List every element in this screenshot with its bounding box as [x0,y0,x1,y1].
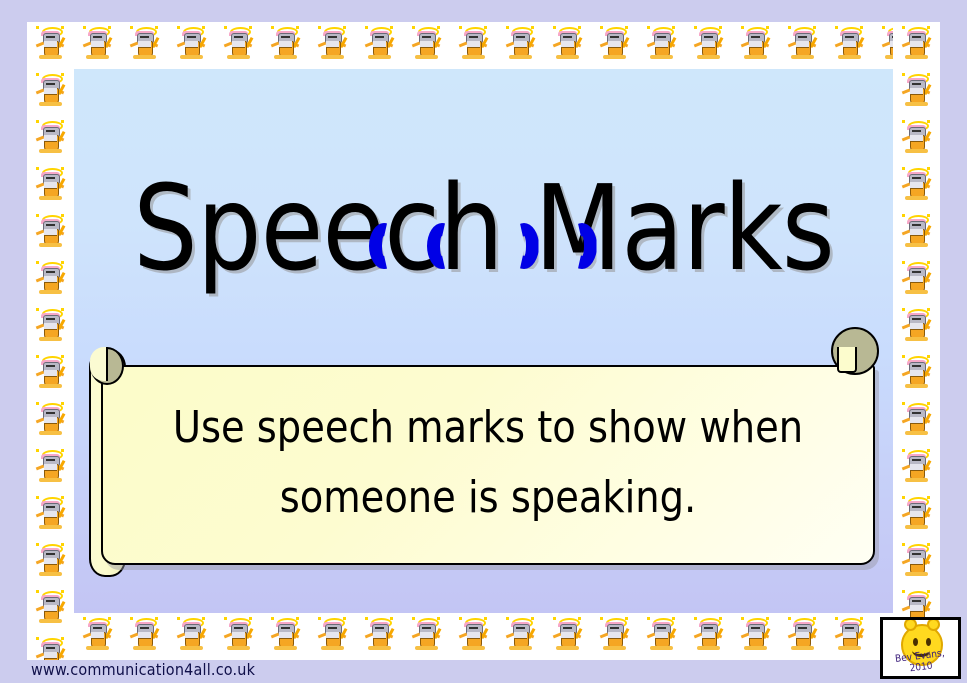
border-character-icon [309,613,356,660]
border-character-icon [732,613,779,660]
scroll-curl-left-notch [90,347,108,381]
border-character-icon [779,613,826,660]
speech-mark-open-2 [425,219,461,281]
border-character-icon [544,613,591,660]
border-character-icon [27,304,74,351]
border-character-icon [121,22,168,69]
border-character-icon [27,257,74,304]
border-character-icon [27,22,74,69]
border-character-icon [27,492,74,539]
border-character-icon [893,116,940,163]
border-character-icon [685,613,732,660]
border-character-icon [27,586,74,633]
scroll-curl-right-notch [837,347,857,373]
border-character-icon [27,445,74,492]
border-character-icon [732,22,779,69]
border-character-icon [893,539,940,586]
border-character-icon [403,22,450,69]
border-band-right [893,22,940,660]
border-character-icon [893,445,940,492]
border-character-icon [450,22,497,69]
logo-attribution-text: Bev Evans, 2010 [882,647,959,678]
border-character-icon [309,22,356,69]
border-character-icon [497,613,544,660]
speech-mark-close-1 [507,219,543,281]
border-character-icon [826,613,873,660]
border-character-icon [27,69,74,116]
border-character-icon [893,163,940,210]
border-character-icon [544,22,591,69]
border-character-icon [27,633,74,660]
border-character-icon [497,22,544,69]
border-character-icon [215,22,262,69]
border-character-icon [893,257,940,304]
border-character-icon [262,22,309,69]
border-character-icon [356,22,403,69]
border-character-icon [74,22,121,69]
border-character-icon [403,613,450,660]
border-character-icon [27,351,74,398]
scroll-banner: Use speech marks to show when someone is… [74,327,893,587]
publisher-logo-badge: Bev Evans, 2010 [880,617,961,679]
scroll-text-line-1: Use speech marks to show when [155,393,820,463]
scroll-text: Use speech marks to show when someone is… [155,393,820,533]
border-character-icon [121,613,168,660]
border-character-icon [893,210,940,257]
border-band-left [27,22,74,660]
border-character-icon [168,613,215,660]
footer-website-url: www.communication4all.co.uk [31,660,255,679]
border-character-icon [356,613,403,660]
border-character-icon [591,613,638,660]
border-character-icon [893,304,940,351]
border-character-icon [893,398,940,445]
border-character-icon [638,613,685,660]
border-character-icon [591,22,638,69]
border-character-icon [893,492,940,539]
border-character-icon [685,22,732,69]
speech-marks-row [74,219,893,281]
poster-panel: Speech Marks Use speech marks to show wh… [74,69,893,613]
border-character-icon [779,22,826,69]
border-band-top [27,22,940,69]
border-character-icon [893,69,940,116]
border-character-icon [27,116,74,163]
border-character-icon [450,613,497,660]
border-character-icon [893,351,940,398]
border-character-icon [74,613,121,660]
border-character-icon [27,210,74,257]
border-character-icon [27,398,74,445]
speech-mark-open-1 [367,219,403,281]
scroll-sheet: Use speech marks to show when someone is… [101,365,875,565]
border-character-icon [893,22,940,69]
scroll-text-line-2: someone is speaking. [155,463,820,533]
border-character-icon [215,613,262,660]
border-character-icon [27,163,74,210]
border-character-icon [27,539,74,586]
border-band-bottom [27,613,940,660]
border-character-icon [262,613,309,660]
border-character-icon [638,22,685,69]
border-character-icon [826,22,873,69]
poster-page: Speech Marks Use speech marks to show wh… [0,0,967,683]
speech-mark-close-2 [565,219,601,281]
border-character-icon [168,22,215,69]
